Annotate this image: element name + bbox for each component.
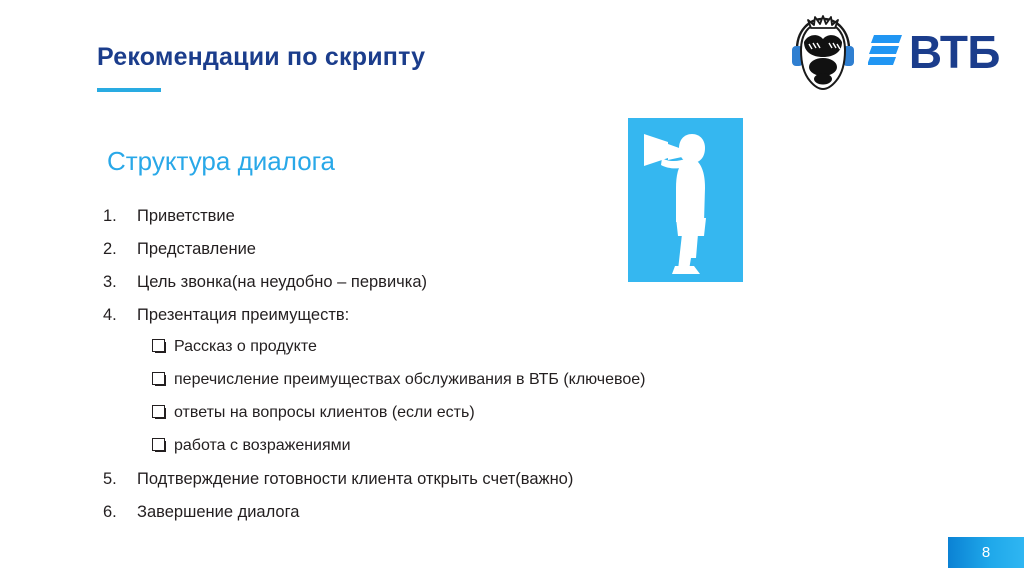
vtb-logo-text: ВТБ bbox=[909, 29, 1000, 75]
list-item: 1. Приветствие bbox=[103, 206, 863, 226]
list-item: 3. Цель звонка(на неудобно – первичка) bbox=[103, 272, 863, 292]
list-item-number: 2. bbox=[103, 239, 137, 259]
page-number-badge: 8 bbox=[948, 537, 1024, 568]
list-item-number: 5. bbox=[103, 469, 137, 489]
sub-list-item-label: Рассказ о продукте bbox=[174, 337, 317, 356]
page-number: 8 bbox=[982, 545, 990, 560]
square-bullet-icon bbox=[152, 372, 174, 389]
square-bullet-icon bbox=[152, 405, 174, 422]
list-item-label: Цель звонка(на неудобно – первичка) bbox=[137, 272, 863, 292]
sub-list-item: перечисление преимуществах обслуживания … bbox=[152, 370, 863, 389]
sub-bullet-list: Рассказ о продукте перечисление преимуще… bbox=[103, 337, 863, 456]
sub-list-item: работа с возражениями bbox=[152, 436, 863, 455]
list-item-number: 1. bbox=[103, 206, 137, 226]
sub-list-item-label: работа с возражениями bbox=[174, 436, 351, 455]
square-bullet-icon bbox=[152, 438, 174, 455]
vtb-stripes-icon bbox=[868, 29, 902, 71]
list-item-number: 4. bbox=[103, 305, 137, 325]
dialog-structure-outline: 1. Приветствие 2. Представление 3. Цель … bbox=[103, 206, 863, 536]
list-item-number: 3. bbox=[103, 272, 137, 292]
vtb-logo: ВТБ bbox=[784, 12, 1000, 92]
list-item: 2. Представление bbox=[103, 239, 863, 259]
list-item-label: Презентация преимуществ: bbox=[137, 305, 863, 325]
sub-list-item: ответы на вопросы клиентов (если есть) bbox=[152, 403, 863, 422]
list-item-label: Завершение диалога bbox=[137, 502, 863, 522]
title-accent-underline bbox=[97, 88, 161, 92]
square-bullet-icon bbox=[152, 339, 174, 356]
list-item: 4. Презентация преимуществ: bbox=[103, 305, 863, 325]
list-item: 5. Подтверждение готовности клиента откр… bbox=[103, 469, 863, 489]
list-item-label: Подтверждение готовности клиента открыть… bbox=[137, 469, 863, 489]
list-item-label: Представление bbox=[137, 239, 863, 259]
sub-list-item-label: ответы на вопросы клиентов (если есть) bbox=[174, 403, 475, 422]
section-heading: Структура диалога bbox=[107, 146, 335, 177]
list-item: 6. Завершение диалога bbox=[103, 502, 863, 522]
list-item-label: Приветствие bbox=[137, 206, 863, 226]
sub-list-item: Рассказ о продукте bbox=[152, 337, 863, 356]
vtb-wordmark: ВТБ bbox=[868, 29, 1000, 75]
list-item-number: 6. bbox=[103, 502, 137, 522]
page-title: Рекомендации по скрипту bbox=[97, 43, 425, 72]
sub-list-item-label: перечисление преимуществах обслуживания … bbox=[174, 370, 645, 389]
gorilla-headphones-mascot-icon bbox=[784, 12, 862, 92]
slide-canvas: Рекомендации по скрипту bbox=[0, 0, 1024, 574]
